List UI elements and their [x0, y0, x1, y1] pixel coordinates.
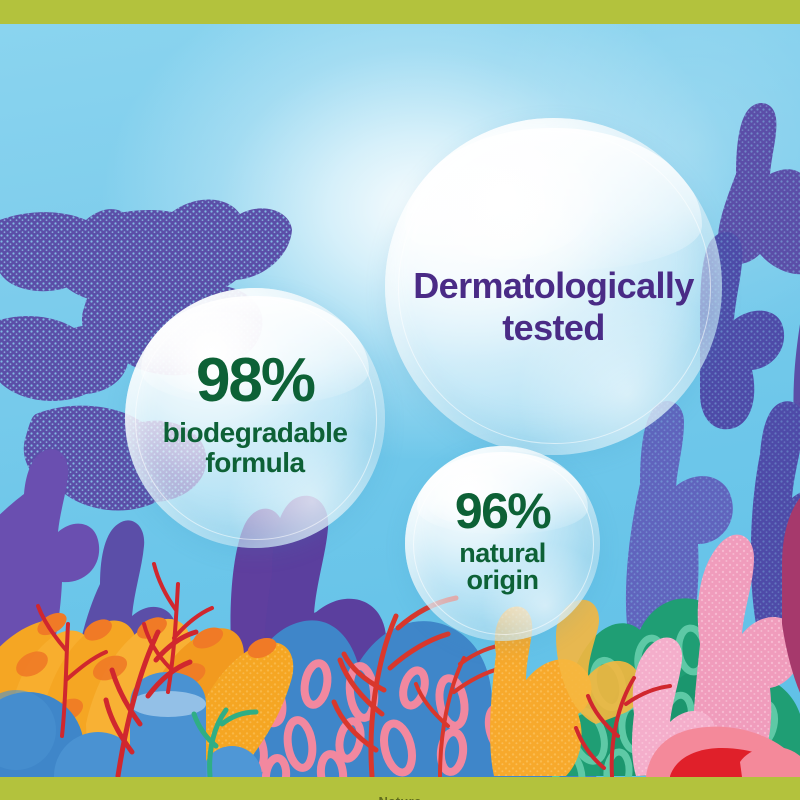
claim-label: 96% natural origin — [405, 488, 600, 594]
claim-label: Dermatologically tested — [385, 268, 722, 346]
sea-background — [0, 24, 800, 777]
claim-line-1: biodegradable — [125, 419, 385, 447]
claim-bubble-natural-origin: 96% natural origin — [405, 446, 600, 641]
top-brand-band — [0, 0, 800, 24]
product-claims-banner: Dermatologically tested 98% biodegradabl… — [0, 0, 800, 800]
bottom-cutoff-text: Nature — [0, 794, 800, 800]
claim-percent: 98% — [125, 352, 385, 411]
claim-line-2: formula — [125, 449, 385, 477]
claim-bubble-biodegradable: 98% biodegradable formula — [125, 288, 385, 548]
claim-percent: 96% — [405, 488, 600, 536]
claim-line-2: origin — [405, 567, 600, 594]
claim-bubble-dermatologically-tested: Dermatologically tested — [385, 118, 722, 455]
claim-line-1: Dermatologically — [385, 268, 722, 304]
reef-illustration — [0, 24, 800, 777]
claim-line-2: tested — [385, 310, 722, 346]
claim-line-1: natural — [405, 540, 600, 567]
claim-label: 98% biodegradable formula — [125, 352, 385, 477]
